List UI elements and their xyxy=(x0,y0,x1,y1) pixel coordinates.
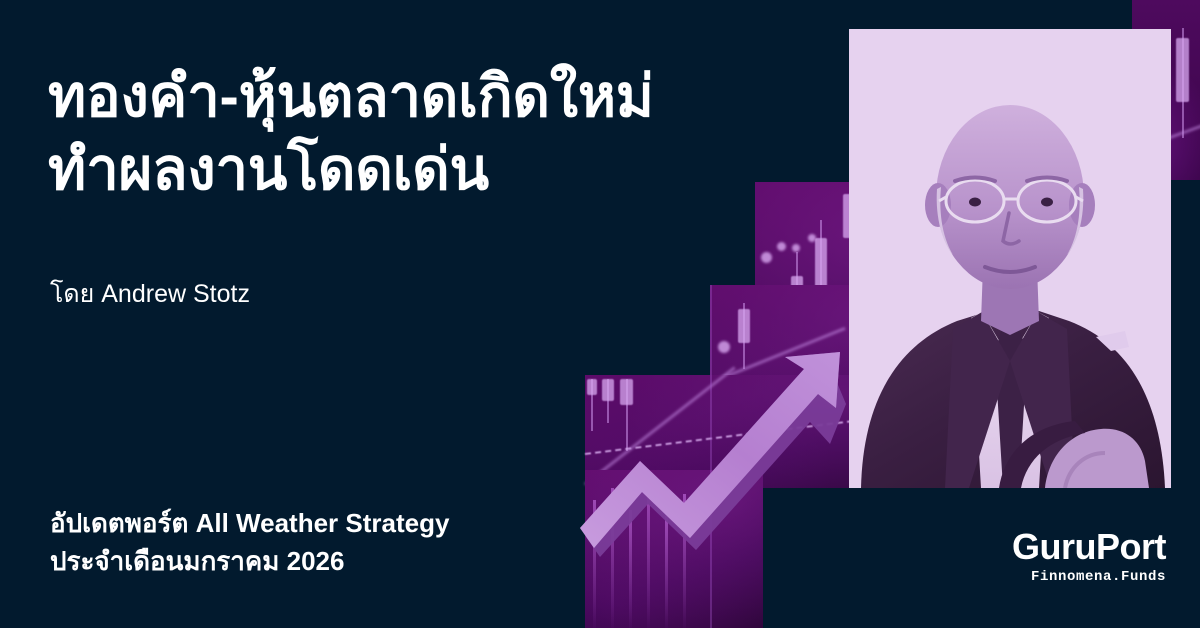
footer-line-1: อัปเดตพอร์ต All Weather Strategy xyxy=(50,505,449,543)
volume-bar xyxy=(593,500,596,628)
data-point-dot xyxy=(808,234,816,242)
candlestick-icon xyxy=(602,379,614,423)
data-point-dot xyxy=(792,244,800,252)
volume-bar xyxy=(647,482,650,628)
volume-bar xyxy=(629,510,632,628)
headline-line-2: ทำผลงานโดดเด่น xyxy=(48,133,788,206)
grid-line xyxy=(710,285,712,488)
grid-line xyxy=(710,470,712,628)
candlestick-icon xyxy=(815,220,827,308)
trend-line xyxy=(705,327,845,386)
logo-wordmark: GuruPort xyxy=(1012,528,1166,566)
brand-logo: GuruPort Finnomena.Funds xyxy=(1012,528,1166,585)
candlestick-icon xyxy=(620,379,633,451)
volume-bar xyxy=(611,488,614,628)
candlestick-icon xyxy=(587,379,597,431)
grid-line xyxy=(710,375,712,488)
volume-bar xyxy=(683,494,686,628)
social-banner: ทองคำ-หุ้นตลาดเกิดใหม่ ทำผลงานโดดเด่น โด… xyxy=(0,0,1200,628)
footer-line-2: ประจำเดือนมกราคม 2026 xyxy=(50,543,449,581)
candlestick-icon xyxy=(791,252,803,314)
chart-panel-step-bottom xyxy=(585,470,763,628)
growth-arrow-icon xyxy=(578,352,864,562)
footer-subtitle: อัปเดตพอร์ต All Weather Strategy ประจำเด… xyxy=(50,505,449,580)
data-point-dot xyxy=(761,252,772,263)
trend-line xyxy=(584,366,736,485)
candlestick-icon xyxy=(1176,28,1189,138)
dashed-trend-line xyxy=(585,420,853,455)
data-point-dot xyxy=(718,341,730,353)
byline: โดย Andrew Stotz xyxy=(50,274,250,314)
candlestick-icon xyxy=(738,303,750,369)
volume-bar xyxy=(665,516,668,628)
avatar xyxy=(849,29,1171,488)
portrait-card xyxy=(849,29,1171,488)
headline-line-1: ทองคำ-หุ้นตลาดเกิดใหม่ xyxy=(48,64,654,129)
page-title: ทองคำ-หุ้นตลาดเกิดใหม่ ทำผลงานโดดเด่น xyxy=(48,60,788,206)
logo-tagline: Finnomena.Funds xyxy=(1012,569,1166,585)
data-point-dot xyxy=(777,242,786,251)
